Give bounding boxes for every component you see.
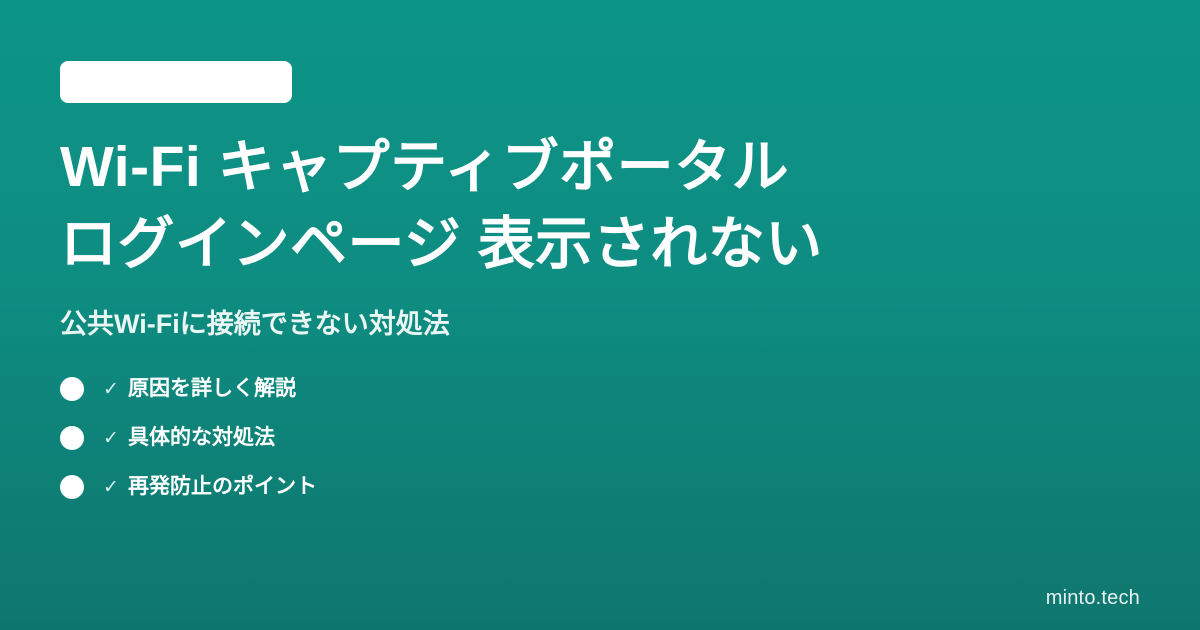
- bullet-dot-icon: [60, 377, 84, 401]
- category-badge: [60, 61, 292, 103]
- page-title: Wi-Fi キャプティブポータル ログインページ 表示されない: [60, 103, 1140, 283]
- feature-list: ✓ 原因を詳しく解説 ✓ 具体的な対処法 ✓ 再発防止のポイント: [60, 341, 1140, 502]
- og-card: Wi-Fi キャプティブポータル ログインページ 表示されない 公共Wi-Fiに…: [0, 0, 1200, 630]
- list-item: ✓ 原因を詳しく解説: [60, 374, 1140, 404]
- bullet-dot-icon: [60, 426, 84, 450]
- list-item-label: 原因を詳しく解説: [128, 374, 296, 404]
- page-subtitle: 公共Wi-Fiに接続できない対処法: [60, 283, 1140, 341]
- list-item: ✓ 再発防止のポイント: [60, 472, 1140, 502]
- list-item-label: 具体的な対処法: [128, 423, 275, 453]
- list-item: ✓ 具体的な対処法: [60, 423, 1140, 453]
- site-name: minto.tech: [1046, 586, 1140, 610]
- check-icon: ✓: [100, 380, 122, 399]
- bullet-dot-icon: [60, 475, 84, 499]
- page-title-line-2: ログインページ 表示されない: [60, 206, 1140, 283]
- page-title-line-1: Wi-Fi キャプティブポータル: [60, 129, 1140, 206]
- check-icon: ✓: [100, 429, 122, 448]
- check-icon: ✓: [100, 478, 122, 497]
- list-item-label: 再発防止のポイント: [128, 472, 317, 502]
